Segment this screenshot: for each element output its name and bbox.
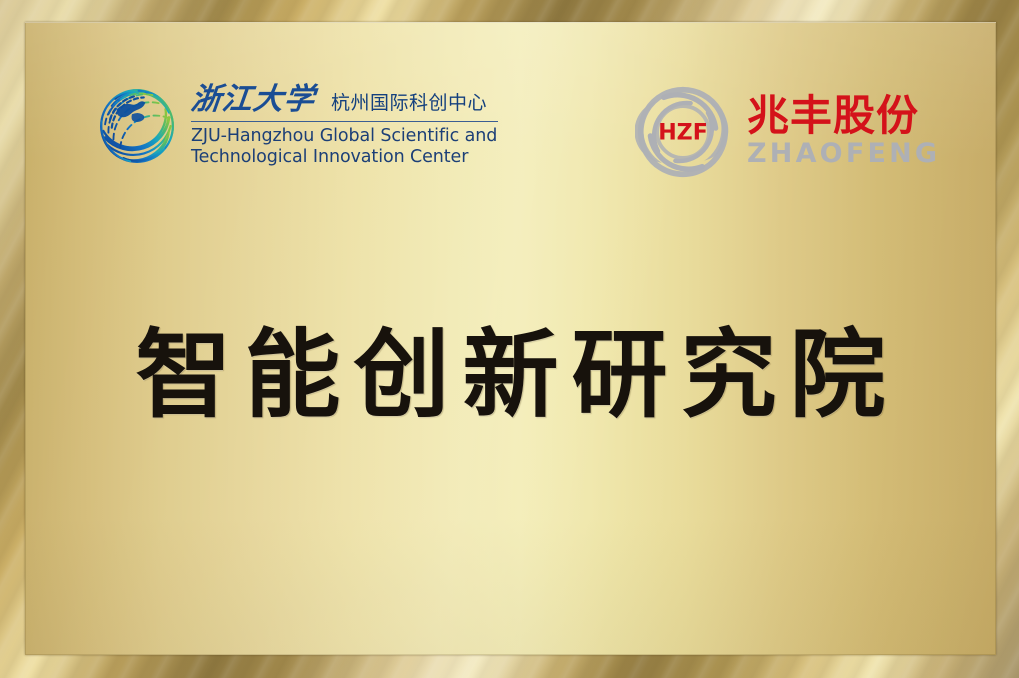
zju-english-line-1: ZJU-Hangzhou Global Scientific and — [191, 126, 498, 147]
zju-university-name-cn: 浙江大学 — [189, 85, 316, 115]
zju-english-line-2: Technological Innovation Center — [191, 147, 498, 168]
zhaofeng-text-block: 兆丰股份 ZHAOFENG — [747, 95, 940, 169]
logo-row: 浙江大学 杭州国际科创中心 ZJU-Hangzhou Global Scient… — [25, 84, 996, 204]
zju-chinese-row: 浙江大学 杭州国际科创中心 — [191, 85, 498, 118]
hzf-emblem-text: HZF — [658, 121, 708, 146]
globe-arcs-icon — [95, 84, 179, 168]
zhaofeng-name-en: ZHAOFENG — [747, 139, 940, 169]
hzf-swirl-emblem-icon: HZF — [635, 84, 731, 180]
brass-name-plaque: 浙江大学 杭州国际科创中心 ZJU-Hangzhou Global Scient… — [0, 0, 1019, 678]
zju-divider-rule — [191, 121, 498, 123]
zhaofeng-name-cn: 兆丰股份 — [747, 95, 940, 138]
plaque-title: 智能创新研究院 — [25, 322, 996, 428]
plaque-inner-panel: 浙江大学 杭州国际科创中心 ZJU-Hangzhou Global Scient… — [25, 22, 996, 655]
zju-logo: 浙江大学 杭州国际科创中心 ZJU-Hangzhou Global Scient… — [95, 84, 498, 168]
zhaofeng-logo: HZF 兆丰股份 ZHAOFENG — [635, 84, 940, 180]
zju-text-block: 浙江大学 杭州国际科创中心 ZJU-Hangzhou Global Scient… — [191, 85, 498, 168]
zju-center-name-cn: 杭州国际科创中心 — [331, 94, 487, 115]
